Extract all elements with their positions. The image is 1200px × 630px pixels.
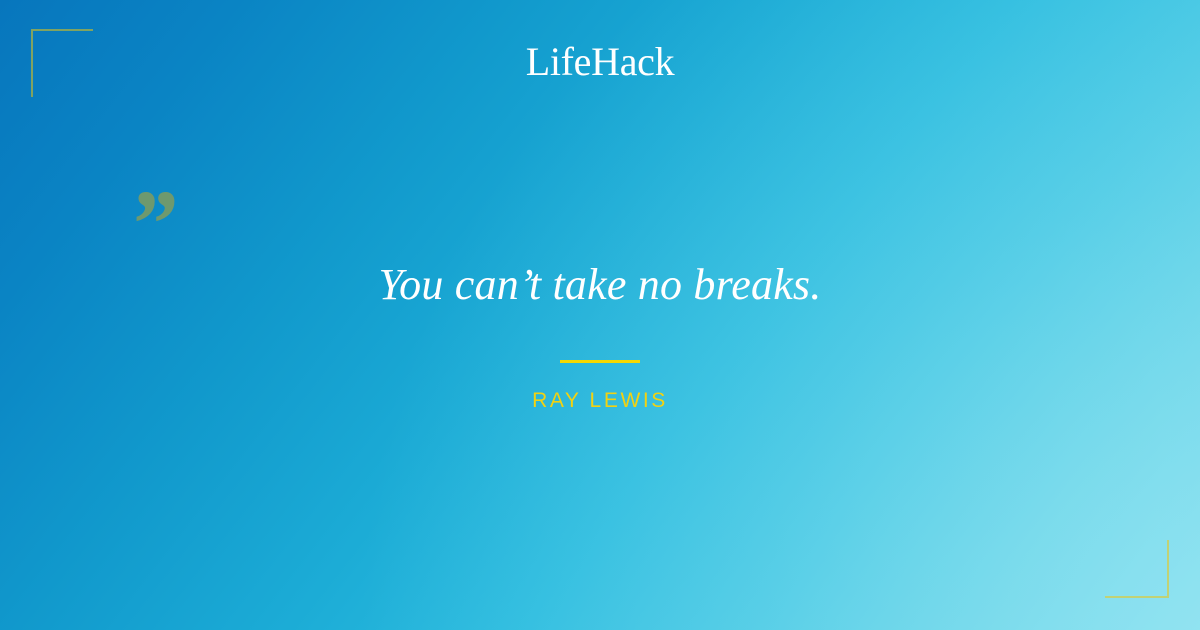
brand-logo: LifeHack [0, 42, 1200, 82]
quote-content: You can’t take no breaks. RAY LEWIS [0, 258, 1200, 411]
divider-rule [560, 360, 640, 363]
brand-logo-text: LifeHack [526, 42, 675, 82]
corner-bracket-bottom-right-icon [1105, 540, 1169, 598]
quote-author: RAY LEWIS [110, 390, 1090, 411]
quote-card: LifeHack ” You can’t take no breaks. RAY… [0, 0, 1200, 630]
quote-text: You can’t take no breaks. [110, 258, 1090, 312]
